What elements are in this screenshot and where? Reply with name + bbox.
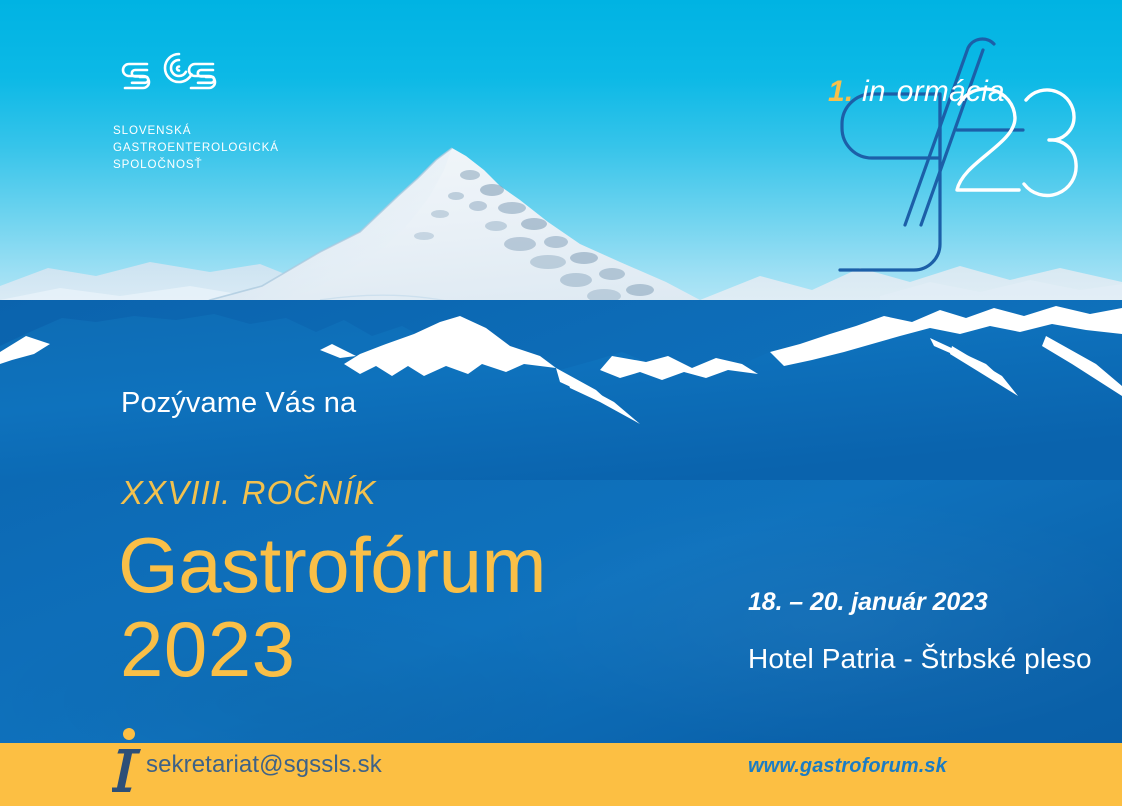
invitation-text: Pozývame Vás na [121, 387, 356, 420]
sgs-logo-icon [113, 44, 221, 110]
website-url[interactable]: www.gastroforum.sk [748, 755, 947, 778]
event-year: 2023 [120, 611, 296, 687]
announcement-word-before-f: in [862, 75, 886, 108]
event-venue: Hotel Patria - Štrbské pleso [748, 643, 1092, 675]
sgs-logo-block: SLOVENSKÁ GASTROENTEROLOGICKÁ SPOLOČNOSŤ [113, 44, 303, 173]
event-title: Gastrofórum [118, 527, 546, 603]
society-name-line-3: SPOLOČNOSŤ [113, 156, 303, 173]
announcement-number: 1. [828, 75, 853, 108]
blue-mountain-silhouette [0, 260, 1122, 480]
contact-email[interactable]: sekretariat@sgssls.sk [146, 751, 382, 779]
society-name: SLOVENSKÁ GASTROENTEROLOGICKÁ SPOLOČNOSŤ [113, 122, 303, 173]
first-announcement-label: 1. inormácia [828, 75, 1005, 109]
announcement-word-after-f: ormácia [897, 75, 1005, 108]
info-i-icon [112, 725, 146, 801]
edition-number-text: XXVIII. ROČNÍK [121, 474, 377, 512]
gf23-badge-block: 1. inormácia [794, 30, 1094, 275]
society-name-line-1: SLOVENSKÁ [113, 122, 303, 139]
event-dates: 18. – 20. január 2023 [748, 588, 988, 617]
gf23-logo-icon [794, 30, 1094, 275]
society-name-line-2: GASTROENTEROLOGICKÁ [113, 139, 303, 156]
poster-canvas: SLOVENSKÁ GASTROENTEROLOGICKÁ SPOLOČNOSŤ [0, 0, 1122, 806]
